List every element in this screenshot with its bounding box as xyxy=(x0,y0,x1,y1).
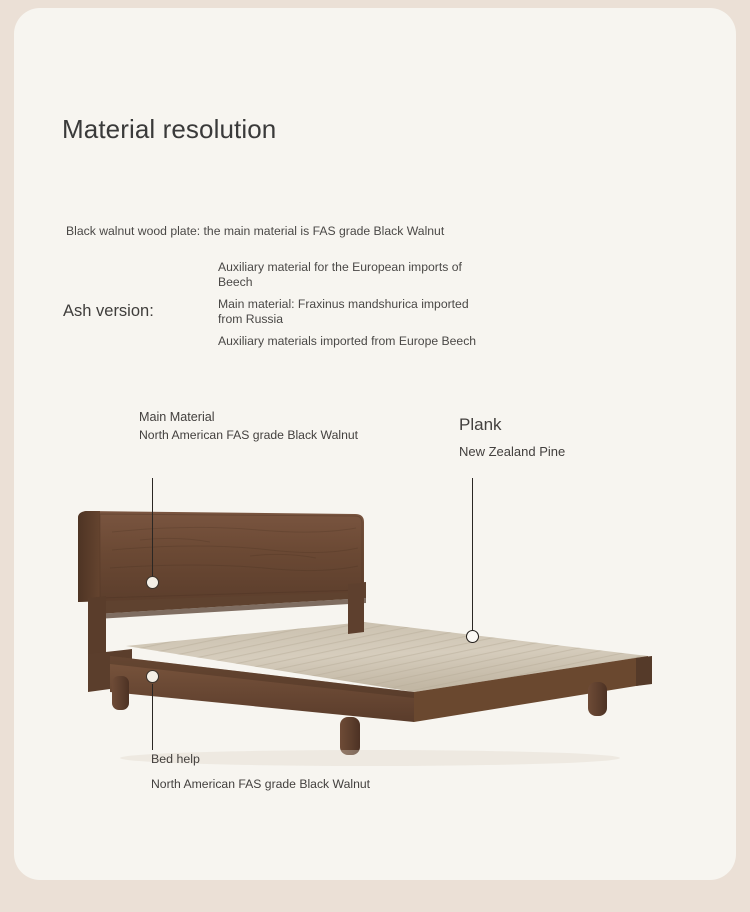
product-material-page: Material resolution Black walnut wood pl… xyxy=(0,0,750,912)
callout-title: Plank xyxy=(459,415,659,435)
spec-walnut-auxiliary: Auxiliary material for the European impo… xyxy=(218,260,488,290)
page-title: Material resolution xyxy=(62,114,276,145)
callout-title: Bed help xyxy=(151,752,381,767)
callout-bed-help: Bed help North American FAS grade Black … xyxy=(151,752,381,792)
marker-dot-bed-help[interactable] xyxy=(146,670,159,683)
spec-walnut-plate: Black walnut wood plate: the main materi… xyxy=(66,224,466,239)
spec-ash-main: Main material: Fraxinus mandshurica impo… xyxy=(218,297,488,327)
bed-right-corner xyxy=(636,656,652,686)
bed-headboard xyxy=(78,511,364,602)
callout-subtitle: North American FAS grade Black Walnut xyxy=(139,428,359,443)
leader-line-bed-help xyxy=(152,684,153,750)
marker-dot-plank[interactable] xyxy=(466,630,479,643)
callout-title: Main Material xyxy=(139,410,359,425)
callout-plank: Plank New Zealand Pine xyxy=(459,415,659,460)
spec-ash-version-label: Ash version: xyxy=(63,302,154,321)
bed-illustration xyxy=(0,470,750,780)
leader-line-plank xyxy=(472,478,473,634)
marker-dot-main-material[interactable] xyxy=(146,576,159,589)
callout-subtitle: North American FAS grade Black Walnut xyxy=(151,777,381,792)
callout-subtitle: New Zealand Pine xyxy=(459,444,659,460)
spec-ash-auxiliary: Auxiliary materials imported from Europe… xyxy=(218,334,488,349)
leader-line-main-material xyxy=(152,478,153,582)
callout-main-material: Main Material North American FAS grade B… xyxy=(139,410,359,443)
